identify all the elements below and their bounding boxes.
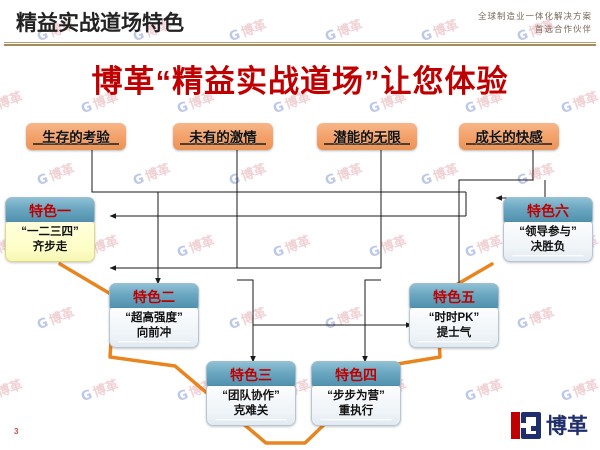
feature-card-5-sheen bbox=[418, 341, 490, 344]
logo-wordmark: 博革 bbox=[546, 410, 588, 440]
source-box-4[interactable]: 成长的快感 bbox=[459, 123, 559, 150]
feature-card-2-sheen bbox=[118, 341, 190, 344]
feature-card-4[interactable]: 特色四 “步步为营” 重执行 bbox=[311, 361, 401, 426]
watermark-logo-icon: G博革 bbox=[174, 230, 217, 261]
feature-card-2[interactable]: 特色二 “超高强度” 向前冲 bbox=[109, 283, 199, 348]
feature-card-6-sheen bbox=[512, 255, 584, 258]
page-number: 3 bbox=[14, 427, 18, 436]
watermark-logo-icon: G博革 bbox=[130, 158, 173, 189]
watermark-logo-icon: G博革 bbox=[322, 158, 365, 189]
header-slogan: 全球制造业一体化解决方案 首选合作伙伴 bbox=[478, 10, 592, 36]
watermark-logo-icon: G博革 bbox=[226, 14, 269, 45]
feature-card-5-body-line1: “时时PK” bbox=[412, 311, 496, 326]
feature-card-2-body-line1: “超高强度” bbox=[112, 311, 196, 326]
feature-card-3[interactable]: 特色三 “团队协作” 克难关 bbox=[206, 361, 296, 426]
watermark-logo-icon: G博革 bbox=[0, 374, 25, 405]
source-box-3[interactable]: 潜能的无限 bbox=[317, 123, 417, 150]
source-box-2[interactable]: 未有的激情 bbox=[173, 123, 273, 150]
feature-card-1-body: “一二三四” 齐步走 bbox=[5, 222, 95, 262]
feature-card-3-title: 特色三 bbox=[206, 361, 296, 388]
watermark-logo-icon: G博革 bbox=[78, 374, 121, 405]
watermark-logo-icon: G博革 bbox=[34, 158, 77, 189]
feature-card-6-body: “领导参与” 决胜负 bbox=[503, 222, 593, 262]
watermark-logo-icon: G博革 bbox=[226, 302, 269, 333]
watermark-logo-icon: G博革 bbox=[322, 302, 365, 333]
feature-card-1-title: 特色一 bbox=[5, 197, 95, 224]
watermark-logo-icon: G博革 bbox=[462, 230, 505, 261]
feature-card-3-body-line1: “团队协作” bbox=[209, 389, 293, 404]
watermark-logo-icon: G博革 bbox=[270, 230, 313, 261]
feature-card-4-title: 特色四 bbox=[311, 361, 401, 388]
feature-card-1-body-line1: “一二三四” bbox=[8, 225, 92, 240]
feature-card-5[interactable]: 特色五 “时时PK” 提士气 bbox=[409, 283, 499, 348]
logo-mark-notch bbox=[521, 423, 528, 428]
watermark-logo-icon: G博革 bbox=[34, 302, 77, 333]
source-box-4-label: 成长的快感 bbox=[475, 126, 543, 147]
header-slogan-line2: 首选合作伙伴 bbox=[478, 23, 592, 36]
watermark-logo-icon: G博革 bbox=[514, 158, 557, 189]
feature-card-1-body-line2: 齐步走 bbox=[8, 240, 92, 255]
feature-card-6-body-line1: “领导参与” bbox=[506, 225, 590, 240]
feature-card-4-body: “步步为营” 重执行 bbox=[311, 386, 401, 426]
watermark-logo-icon: G博革 bbox=[418, 14, 461, 45]
main-heading: 博革“精益实战道场”让您体验 bbox=[0, 56, 600, 101]
feature-card-6-body-line2: 决胜负 bbox=[506, 240, 590, 255]
feature-card-6[interactable]: 特色六 “领导参与” 决胜负 bbox=[503, 197, 593, 262]
feature-card-2-body-line2: 向前冲 bbox=[112, 326, 196, 341]
watermark-logo-icon: G博革 bbox=[462, 374, 505, 405]
feature-card-4-body-line1: “步步为营” bbox=[314, 389, 398, 404]
source-box-1-label: 生存的考验 bbox=[42, 126, 110, 147]
watermark-logo-icon: G博革 bbox=[558, 374, 600, 405]
watermark-logo-icon: G博革 bbox=[226, 158, 269, 189]
source-box-2-label: 未有的激情 bbox=[189, 126, 257, 147]
watermark-logo-icon: G博革 bbox=[514, 302, 557, 333]
feature-card-5-title: 特色五 bbox=[409, 283, 499, 310]
feature-card-3-body: “团队协作” 克难关 bbox=[206, 386, 296, 426]
feature-card-5-body: “时时PK” 提士气 bbox=[409, 308, 499, 348]
logo-mark-icon bbox=[511, 412, 541, 439]
feature-card-6-title: 特色六 bbox=[503, 197, 593, 224]
source-box-3-label: 潜能的无限 bbox=[333, 126, 401, 147]
feature-card-3-sheen bbox=[215, 419, 287, 422]
page-title: 精益实战道场特色 bbox=[16, 7, 184, 37]
source-box-1[interactable]: 生存的考验 bbox=[26, 123, 126, 150]
feature-card-1[interactable]: 特色一 “一二三四” 齐步走 bbox=[5, 197, 95, 262]
header-divider-line-thick bbox=[4, 44, 596, 46]
header-divider-line-thin bbox=[4, 42, 596, 43]
feature-card-2-title: 特色二 bbox=[109, 283, 199, 310]
watermark-logo-icon: G博革 bbox=[366, 230, 409, 261]
feature-card-3-body-line2: 克难关 bbox=[209, 404, 293, 419]
feature-card-4-sheen bbox=[320, 419, 392, 422]
slide-canvas: G博革G博革G博革G博革G博革G博革G博革G博革G博革G博革G博革G博革G博革G… bbox=[0, 0, 600, 450]
header-divider bbox=[4, 42, 596, 47]
feature-card-4-body-line2: 重执行 bbox=[314, 404, 398, 419]
watermark-logo-icon: G博革 bbox=[322, 14, 365, 45]
feature-card-5-body-line2: 提士气 bbox=[412, 326, 496, 341]
company-logo: 博革 bbox=[511, 410, 588, 440]
logo-mark-bar bbox=[511, 412, 520, 439]
feature-card-2-body: “超高强度” 向前冲 bbox=[109, 308, 199, 348]
watermark-logo-icon: G博革 bbox=[418, 158, 461, 189]
header-slogan-line1: 全球制造业一体化解决方案 bbox=[478, 10, 592, 23]
